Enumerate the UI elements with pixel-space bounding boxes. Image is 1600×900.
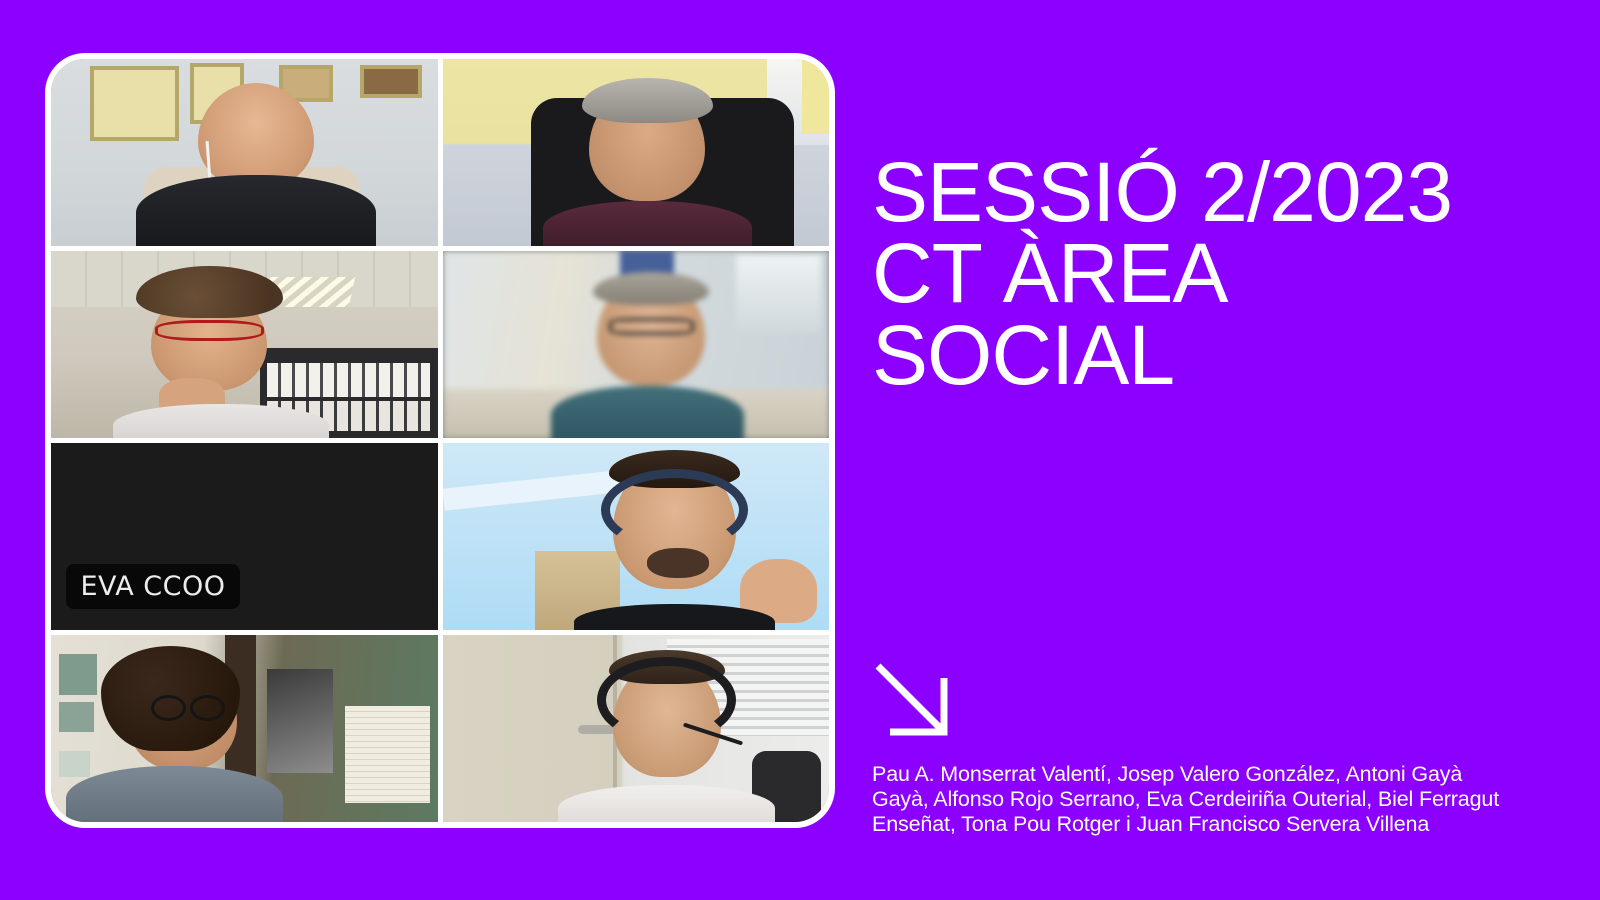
participant-name-chip: EVA CCOO	[66, 564, 239, 609]
participants-line-1: Pau A. Monserrat Valentí, Josep Valero G…	[872, 762, 1532, 787]
video-tile-2[interactable]	[443, 59, 830, 246]
round-glasses-icon	[151, 695, 186, 721]
participant-beard	[647, 548, 709, 578]
black-white-photo	[267, 669, 333, 774]
wall-poster	[59, 654, 98, 695]
tile-6-scene	[443, 443, 830, 630]
video-tile-5[interactable]: EVA CCOO	[51, 443, 438, 630]
wall-poster	[59, 702, 94, 732]
wall-frame-icon	[90, 66, 179, 141]
arrow-down-right-icon	[872, 660, 960, 748]
tile-1-scene	[51, 59, 438, 246]
tile-4-scene	[443, 251, 830, 438]
participant-torso	[551, 386, 744, 438]
video-tile-4[interactable]	[443, 251, 830, 438]
content-column: SESSIÓ 2/2023 CT ÀREA SOCIAL Pau A. Mons…	[872, 0, 1572, 900]
participant-torso	[136, 175, 376, 246]
video-tile-8[interactable]	[443, 635, 830, 822]
participants-line-2: Gayà, Alfonso Rojo Serrano, Eva Cerdeiri…	[872, 787, 1532, 812]
participant-torso	[543, 201, 752, 246]
wall-frame-icon	[360, 65, 422, 99]
participant-torso	[113, 404, 329, 438]
wall-papers	[345, 706, 430, 803]
tile-2-scene	[443, 59, 830, 246]
participant-head	[198, 83, 314, 188]
binder-row	[267, 363, 429, 397]
tile-7-scene	[51, 635, 438, 822]
window-light	[736, 255, 821, 334]
participant-hair	[582, 78, 713, 123]
round-glasses-icon	[190, 695, 225, 721]
video-tile-7[interactable]	[51, 635, 438, 822]
video-tile-1[interactable]	[51, 59, 438, 246]
glasses-icon	[609, 318, 694, 335]
tile-8-scene	[443, 635, 830, 822]
participants-list: Pau A. Monserrat Valentí, Josep Valero G…	[872, 762, 1532, 837]
headset-icon	[597, 657, 736, 743]
participants-line-3: Enseñat, Tona Pou Rotger i Juan Francisc…	[872, 812, 1532, 837]
video-call-panel: EVA CCOO	[45, 53, 835, 828]
tile-3-scene	[51, 251, 438, 438]
participant-torso	[558, 785, 774, 822]
wall-panel	[802, 59, 829, 134]
video-tile-3[interactable]	[51, 251, 438, 438]
red-glasses-icon	[155, 320, 263, 341]
participant-hair	[593, 272, 709, 306]
wall-poster	[59, 751, 90, 777]
participant-torso	[66, 766, 282, 822]
headphones-icon	[601, 469, 748, 551]
video-tile-6[interactable]	[443, 443, 830, 630]
page-title: SESSIÓ 2/2023 CT ÀREA SOCIAL	[872, 152, 1512, 396]
video-grid: EVA CCOO	[51, 59, 829, 822]
